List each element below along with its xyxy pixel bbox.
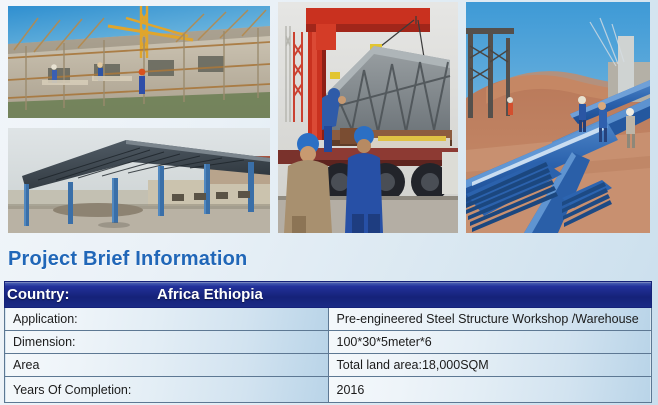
row-value-application: Pre-engineered Steel Structure Workshop … — [328, 308, 652, 331]
photo-blue-roof-panels-image — [466, 2, 650, 233]
photo-finished-steel-shed-image — [8, 128, 270, 233]
page-title: Project Brief Information — [8, 248, 247, 271]
country-label: Country: — [5, 286, 157, 303]
row-label-years-of-completion: Years Of Completion: — [5, 377, 329, 403]
project-brief-table-body: Country: Africa Ethiopia Application: Pr… — [5, 282, 652, 403]
country-header-cell: Country: Africa Ethiopia — [5, 282, 652, 308]
table-row-country: Country: Africa Ethiopia — [5, 282, 652, 308]
row-label-dimension: Dimension: — [5, 331, 329, 354]
row-label-application: Application: — [5, 308, 329, 331]
photo-construction-scaffolding — [8, 6, 270, 118]
table-row: Dimension: 100*30*5meter*6 — [5, 331, 652, 354]
table-row: Years Of Completion: 2016 — [5, 377, 652, 403]
photo-truss-loading-image — [278, 2, 458, 233]
project-brief-table: Country: Africa Ethiopia Application: Pr… — [4, 281, 652, 403]
row-value-area: Total land area:18,000SQM — [328, 354, 652, 377]
photo-blue-roof-panels — [466, 2, 650, 233]
table-row: Application: Pre-engineered Steel Struct… — [5, 308, 652, 331]
photo-truss-loading — [278, 2, 458, 233]
row-value-dimension: 100*30*5meter*6 — [328, 331, 652, 354]
table-row: Area Total land area:18,000SQM — [5, 354, 652, 377]
country-value: Africa Ethiopia — [157, 286, 263, 303]
project-photo-gallery — [0, 0, 658, 234]
row-value-years-of-completion: 2016 — [328, 377, 652, 403]
photo-finished-steel-shed — [8, 128, 270, 233]
row-label-area: Area — [5, 354, 329, 377]
photo-construction-scaffolding-image — [8, 6, 270, 118]
